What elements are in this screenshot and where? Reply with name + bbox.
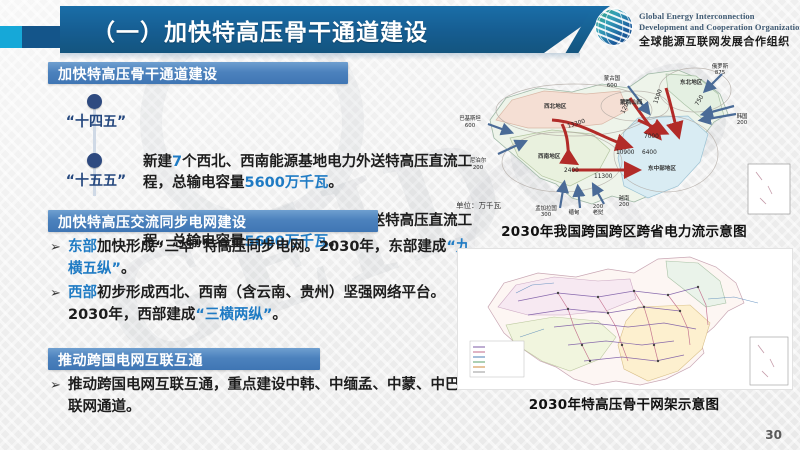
svg-text:蒙古国: 蒙古国 bbox=[604, 74, 620, 82]
svg-text:巴基斯坦: 巴基斯坦 bbox=[459, 114, 481, 122]
svg-text:200: 200 bbox=[473, 165, 484, 171]
svg-text:10900: 10900 bbox=[616, 150, 635, 156]
bullet-text: 推动跨国电网互联互通，重点建设中韩、中缅孟、中蒙、中巴联网通道。 bbox=[68, 377, 460, 415]
svg-text:韩国: 韩国 bbox=[737, 112, 748, 120]
section-header-2-label: 加快特高压交流同步电网建设 bbox=[58, 212, 247, 232]
svg-text:200: 200 bbox=[593, 204, 604, 210]
arrow-bullet-icon: ➢ bbox=[50, 375, 61, 397]
map-power-flow-2030: 西北地区 西南地区 东北地区 蒙西山西 东中部地区 13300 10900 11… bbox=[452, 58, 796, 218]
page-number: 30 bbox=[765, 428, 782, 442]
svg-text:11300: 11300 bbox=[594, 174, 613, 180]
bullet-item: ➢ 推动跨国电网互联互通，重点建设中韩、中缅孟、中蒙、中巴联网通道。 bbox=[48, 375, 472, 418]
section-header-1: 加快特高压骨干通道建设 bbox=[48, 62, 348, 84]
svg-text:西南地区: 西南地区 bbox=[538, 152, 561, 160]
page-title: （一）加快特高压骨干通道建设 bbox=[92, 13, 428, 47]
section-header-3: 推动跨国电网互联互通 bbox=[48, 348, 320, 370]
svg-text:875: 875 bbox=[715, 70, 725, 76]
title-accent-square-cyan bbox=[0, 26, 22, 48]
svg-text:尼泊尔: 尼泊尔 bbox=[470, 156, 487, 164]
section-3-bullets: ➢ 推动跨国电网互联互通，重点建设中韩、中缅孟、中蒙、中巴联网通道。 bbox=[48, 375, 448, 418]
bullet-item: ➢ 东部加快形成“三华”特高压同步电网。2030年，东部建成“九横五纵”。 bbox=[48, 237, 472, 280]
svg-text:西北地区: 西北地区 bbox=[544, 102, 567, 110]
timeline-label-2: “十五五” bbox=[48, 170, 144, 190]
timeline-dot-2-icon bbox=[87, 153, 102, 168]
logo-english-line1: Global Energy Interconnection bbox=[639, 11, 755, 21]
svg-text:600: 600 bbox=[607, 83, 618, 89]
timeline-text-1: 新建7个西北、西南能源基地电力外送特高压直流工程，总输电容量5600万千瓦。 bbox=[143, 152, 475, 194]
section-2-bullets: ➢ 东部加快形成“三华”特高压同步电网。2030年，东部建成“九横五纵”。 ➢ … bbox=[48, 237, 456, 326]
timeline-label-1: “十四五” bbox=[48, 111, 144, 131]
svg-text:东中部地区: 东中部地区 bbox=[648, 164, 676, 172]
svg-text:200: 200 bbox=[619, 202, 630, 208]
svg-text:东北地区: 东北地区 bbox=[680, 78, 703, 86]
svg-text:600: 600 bbox=[465, 123, 476, 129]
section-header-3-label: 推动跨国电网互联互通 bbox=[58, 350, 203, 370]
arrow-bullet-icon: ➢ bbox=[50, 283, 61, 305]
svg-text:300: 300 bbox=[541, 212, 552, 218]
svg-text:越南: 越南 bbox=[619, 194, 630, 202]
map-power-flow-graphic: 西北地区 西南地区 东北地区 蒙西山西 东中部地区 13300 10900 11… bbox=[452, 58, 796, 218]
bullet-text: 西部初步形成西北、西南（含云南、贵州）坚强网络平台。2030年，西部建成“三横两… bbox=[68, 285, 445, 323]
globe-icon bbox=[594, 7, 634, 47]
content-column-right: 西北地区 西南地区 东北地区 蒙西山西 东中部地区 13300 10900 11… bbox=[452, 58, 796, 413]
bullet-item: ➢ 西部初步形成西北、西南（含云南、贵州）坚强网络平台。2030年，西部建成“三… bbox=[48, 283, 472, 326]
title-accent-square-blue bbox=[22, 26, 62, 48]
map-unit-label: 单位：万千瓦 bbox=[456, 200, 501, 211]
svg-text:7000: 7000 bbox=[644, 134, 659, 140]
logo-chinese-name: 全球能源互联网发展合作组织 bbox=[639, 33, 790, 49]
organization-logo: Global Energy Interconnection Developmen… bbox=[594, 4, 800, 52]
svg-text:俄罗斯: 俄罗斯 bbox=[712, 62, 729, 70]
logo-english-line2: Development and Cooperation Organization bbox=[639, 22, 800, 32]
arrow-bullet-icon: ➢ bbox=[50, 237, 61, 259]
map-uhv-backbone-2030 bbox=[457, 248, 793, 390]
svg-text:2400: 2400 bbox=[564, 168, 579, 174]
bullet-text: 东部加快形成“三华”特高压同步电网。2030年，东部建成“九横五纵”。 bbox=[68, 239, 470, 277]
section-header-1-label: 加快特高压骨干通道建设 bbox=[58, 64, 218, 84]
slide-root: GEIDCO （一）加快特高压骨干通道建设 bbox=[0, 0, 800, 450]
map-uhv-backbone-graphic bbox=[458, 249, 792, 389]
timeline-dot-1-icon bbox=[87, 94, 102, 109]
map-2-caption: 2030年特高压骨干网架示意图 bbox=[452, 393, 796, 413]
content-column-left: 加快特高压骨干通道建设 “十四五” “十五五” 新建7个西北、西南能源基地电力外… bbox=[26, 62, 456, 432]
svg-text:孟加拉国: 孟加拉国 bbox=[535, 204, 557, 212]
map-1-caption: 2030年我国跨国跨区跨省电力流示意图 bbox=[452, 220, 796, 240]
svg-text:缅甸: 缅甸 bbox=[569, 208, 580, 216]
section-header-2: 加快特高压交流同步电网建设 bbox=[48, 210, 378, 232]
svg-text:200: 200 bbox=[737, 120, 748, 126]
svg-text:6400: 6400 bbox=[642, 150, 657, 156]
